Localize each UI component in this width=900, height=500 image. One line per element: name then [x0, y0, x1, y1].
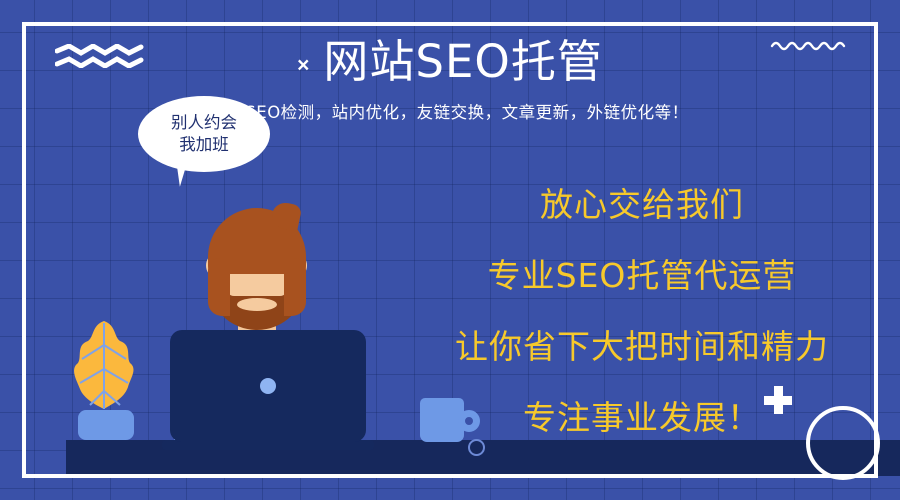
copy-line-3: 让你省下大把时间和精力	[432, 330, 852, 363]
seo-hosting-banner: × 网站SEO托管 含：SEO检测，站内优化，友链交换，文章更新，外链优化等！ …	[0, 0, 900, 500]
circle-outline-icon	[806, 406, 880, 480]
page-title: 网站SEO托管	[323, 38, 602, 85]
wave-lines-icon	[55, 44, 147, 73]
potted-plant-icon	[62, 320, 146, 440]
laptop-icon	[170, 330, 366, 442]
laptop-logo-icon	[260, 378, 276, 394]
wave-line-icon	[770, 38, 850, 57]
close-icon: ×	[297, 55, 309, 76]
speech-bubble-line-1: 别人约会	[171, 112, 237, 134]
copy-line-2: 专业SEO托管代运营	[432, 259, 852, 292]
speech-bubble-line-2: 我加班	[179, 134, 229, 156]
person-sideburn-left	[208, 258, 230, 316]
mug-ring-decoration	[468, 439, 485, 456]
copy-line-1: 放心交给我们	[432, 188, 852, 221]
person-sideburn-right	[284, 258, 306, 316]
plus-icon	[764, 386, 792, 414]
subtitle: 含：SEO检测，站内优化，友链交换，文章更新，外链优化等！	[0, 99, 900, 123]
mug-handle	[458, 410, 480, 432]
speech-bubble: 别人约会 我加班	[138, 96, 270, 172]
person-mouth	[237, 298, 277, 311]
coffee-mug-icon	[420, 398, 482, 442]
plant-leaf	[68, 319, 142, 416]
